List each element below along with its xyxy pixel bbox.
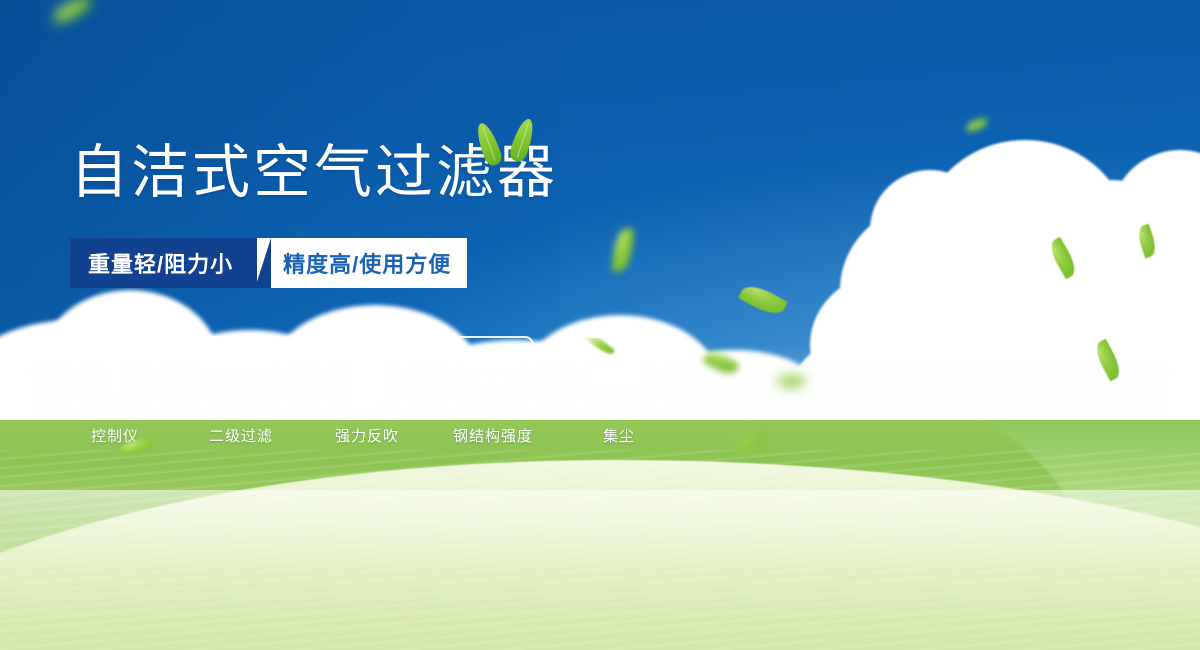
feature-icon-box: 0.6～0.8 MPA	[200, 336, 282, 414]
subtitle-bar: 重量轻/阻力小 精度高/使用方便	[70, 238, 467, 288]
air-cloud-text: Air	[586, 388, 652, 402]
steel-plate-text: 钢板	[478, 375, 508, 394]
feature-label: 强力反吹	[326, 425, 408, 446]
feature-list: NO OFF 控制仪 0.6～0.8 MPA 二级过滤	[74, 336, 660, 446]
feature-label: 二级过滤	[200, 425, 282, 446]
grass-field	[0, 420, 1200, 650]
feature-item-backblow[interactable]: 强力反吹	[326, 336, 408, 446]
feature-label: 钢结构强度	[452, 425, 534, 446]
pressure-value-icon: 0.6～0.8	[213, 356, 270, 375]
subtitle-left: 重量轻/阻力小	[70, 238, 257, 288]
feature-item-dust[interactable]: Air 集尘	[578, 336, 660, 446]
product-banner: 自洁式空气过滤器 重量轻/阻力小 精度高/使用方便	[0, 0, 1200, 650]
dial-needle	[110, 356, 120, 396]
pressure-unit-text: MPA	[225, 375, 256, 394]
feature-icon-box: 3～8MM 钢板	[452, 336, 534, 414]
feature-item-pressure[interactable]: 0.6～0.8 MPA 二级过滤	[200, 336, 282, 446]
dial-gauge-icon: NO OFF	[82, 344, 148, 406]
feature-item-control-dial[interactable]: NO OFF 控制仪	[74, 336, 156, 446]
coil-filter-icon	[339, 346, 395, 404]
leaf-icon	[583, 336, 615, 358]
feature-icon-box: Air	[578, 336, 660, 414]
feature-label: 集尘	[578, 425, 660, 446]
grass-highlight	[0, 490, 1200, 650]
title-leaf-pair	[476, 112, 546, 168]
feature-icon-box	[326, 336, 408, 414]
dial-label-no: NO	[81, 370, 93, 377]
air-cloud-icon: Air	[586, 347, 652, 403]
steel-plate-icon: 3～8MM	[465, 356, 522, 375]
dial-label-off: OFF	[135, 393, 151, 400]
leaf-icon	[508, 116, 538, 163]
subtitle-right: 精度高/使用方便	[255, 238, 467, 288]
feature-item-steel[interactable]: 3～8MM 钢板 钢结构强度	[452, 336, 534, 446]
leaf-icon	[473, 120, 504, 167]
feature-icon-box: NO OFF	[74, 336, 156, 414]
